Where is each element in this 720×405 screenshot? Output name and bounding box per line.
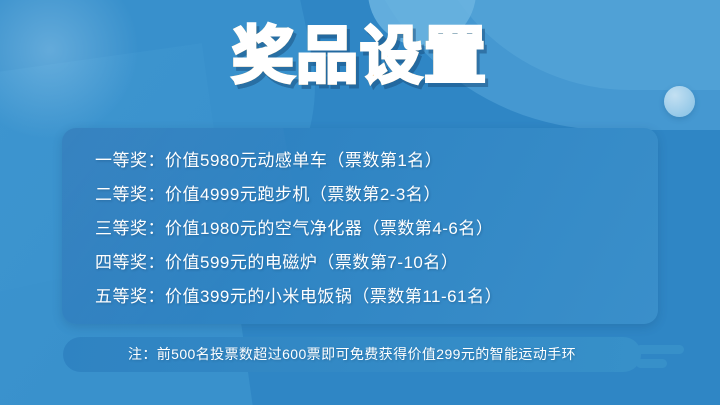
slide-canvas: 奖品设置 一等奖：价值5980元动感单车（票数第1名） 二等奖：价值4999元跑…	[0, 0, 720, 405]
decorative-circle-small	[664, 86, 695, 117]
prize-row: 二等奖：价值4999元跑步机（票数第2-3名）	[95, 178, 658, 212]
prize-description: 价值399元的小米电饭锅（票数第11-61名）	[165, 287, 502, 306]
page-title-container: 奖品设置	[0, 26, 720, 88]
prize-list: 一等奖：价值5980元动感单车（票数第1名） 二等奖：价值4999元跑步机（票数…	[62, 128, 658, 314]
prize-rank-label: 一等奖：	[95, 151, 165, 170]
prize-rank-label: 二等奖：	[95, 185, 165, 204]
prize-row: 四等奖：价值599元的电磁炉（票数第7-10名）	[95, 246, 658, 280]
prize-description: 价值4999元跑步机（票数第2-3名）	[165, 185, 441, 204]
prize-row: 一等奖：价值5980元动感单车（票数第1名）	[95, 144, 658, 178]
note-decorative-tab-upper	[636, 345, 684, 354]
page-title: 奖品设置	[232, 26, 488, 88]
prize-rank-label: 四等奖：	[95, 253, 165, 272]
prize-panel: 一等奖：价值5980元动感单车（票数第1名） 二等奖：价值4999元跑步机（票数…	[62, 128, 658, 324]
prize-rank-label: 五等奖：	[95, 287, 165, 306]
footer-note-text: 注：前500名投票数超过600票即可免费获得价值299元的智能运动手环	[63, 337, 641, 372]
prize-description: 价值5980元动感单车（票数第1名）	[165, 151, 442, 170]
prize-description: 价值1980元的空气净化器（票数第4-6名）	[165, 219, 493, 238]
footer-note-panel: 注：前500名投票数超过600票即可免费获得价值299元的智能运动手环	[63, 337, 641, 372]
prize-rank-label: 三等奖：	[95, 219, 165, 238]
prize-row: 五等奖：价值399元的小米电饭锅（票数第11-61名）	[95, 280, 658, 314]
prize-description: 价值599元的电磁炉（票数第7-10名）	[165, 253, 458, 272]
prize-row: 三等奖：价值1980元的空气净化器（票数第4-6名）	[95, 212, 658, 246]
